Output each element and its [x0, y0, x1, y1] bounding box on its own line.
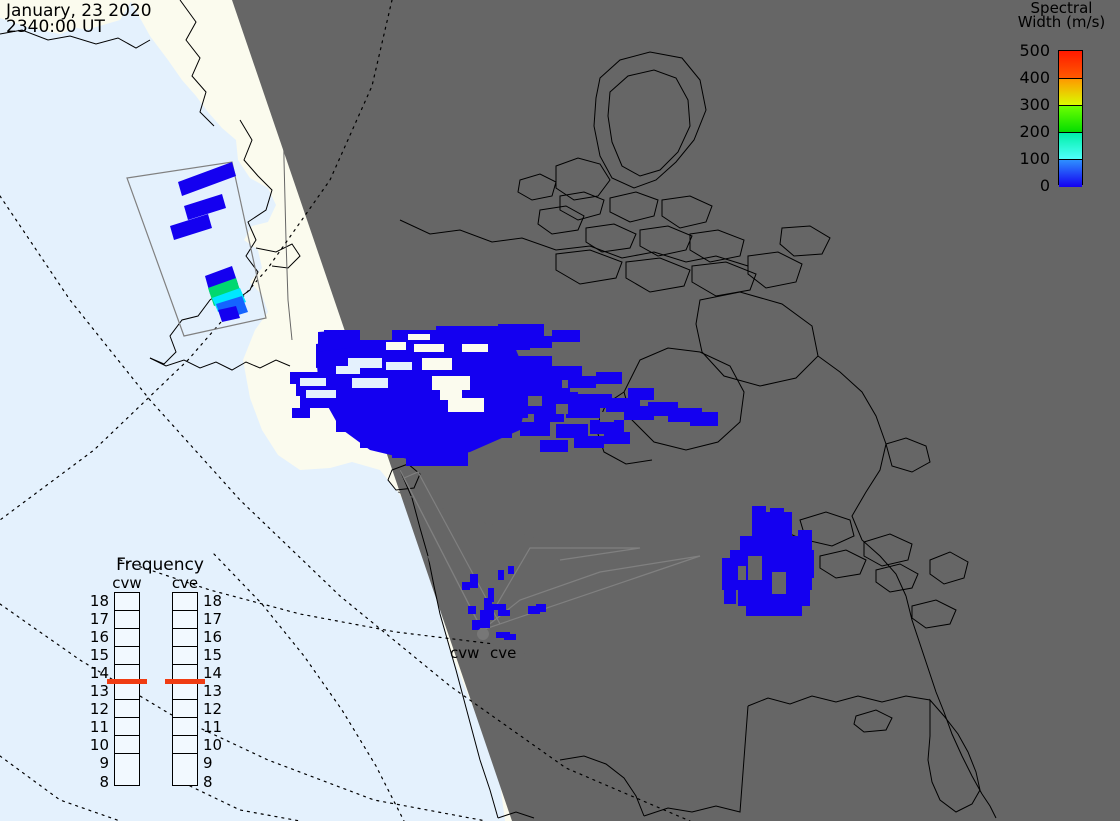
freq-scale-cvw-14: 14 [87, 666, 109, 681]
frequency-panel: Frequency cvw cve [85, 556, 235, 806]
freq-scale-cve-9: 9 [203, 756, 225, 771]
freq-scale-cvw-16: 16 [87, 630, 109, 645]
frequency-panel-title: Frequency [85, 556, 235, 574]
freq-scale-cve-15: 15 [203, 648, 225, 663]
radar-map-window: January, 23 2020 2340:00 UT cvw cve Spec… [0, 0, 1120, 821]
colorbar-tick-200: 200 [1003, 124, 1050, 140]
freq-scale-cvw-15: 15 [87, 648, 109, 663]
colorbar-tick-300: 300 [1003, 97, 1050, 113]
freq-scale-cve-14: 14 [203, 666, 225, 681]
radar-site-marker [477, 628, 489, 640]
frequency-column-header-cve: cve [163, 575, 207, 591]
frequency-gauge-cve [172, 592, 198, 786]
freq-scale-cve-16: 16 [203, 630, 225, 645]
freq-scale-cve-13: 13 [203, 684, 225, 699]
colorbar-segment-200-300 [1059, 105, 1082, 133]
frequency-gauge-cvw [114, 592, 140, 786]
colorbar-segment-300-400 [1059, 78, 1082, 106]
freq-scale-cvw-11: 11 [87, 720, 109, 735]
freq-scale-cvw-9: 9 [87, 756, 109, 771]
frequency-marker-cvw [107, 679, 147, 684]
freq-scale-cve-11: 11 [203, 720, 225, 735]
freq-scale-cve-8: 8 [203, 775, 225, 790]
colorbar-ticks: 500 400 300 200 100 0 [1003, 40, 1050, 195]
freq-scale-cvw-12: 12 [87, 702, 109, 717]
colorbar-tick-100: 100 [1003, 151, 1050, 167]
freq-scale-cve-17: 17 [203, 612, 225, 627]
freq-scale-cvw-13: 13 [87, 684, 109, 699]
freq-scale-cvw-18: 18 [87, 594, 109, 609]
colorbar-tick-500: 500 [1003, 43, 1050, 59]
colorbar-segment-0-100 [1059, 159, 1082, 187]
timestamp-time: 2340:00 UT [6, 18, 105, 36]
colorbar-tick-400: 400 [1003, 70, 1050, 86]
frequency-column-header-cvw: cvw [105, 575, 149, 591]
station-label-cvw: cvw [450, 645, 479, 661]
colorbar-segment-400-500 [1059, 51, 1082, 78]
colorbar-gradient [1058, 50, 1083, 185]
frequency-marker-cve [165, 679, 205, 684]
freq-scale-cvw-10: 10 [87, 738, 109, 753]
freq-scale-cvw-8: 8 [87, 775, 109, 790]
colorbar-title-line2: Width (m/s) [1003, 14, 1120, 30]
freq-scale-cve-10: 10 [203, 738, 225, 753]
freq-scale-cve-12: 12 [203, 702, 225, 717]
colorbar-segment-100-200 [1059, 132, 1082, 160]
freq-scale-cvw-17: 17 [87, 612, 109, 627]
colorbar: Spectral Width (m/s) 500 400 300 200 100… [1003, 0, 1120, 200]
freq-scale-cve-18: 18 [203, 594, 225, 609]
station-label-cve: cve [490, 645, 516, 661]
colorbar-tick-0: 0 [1003, 178, 1050, 194]
